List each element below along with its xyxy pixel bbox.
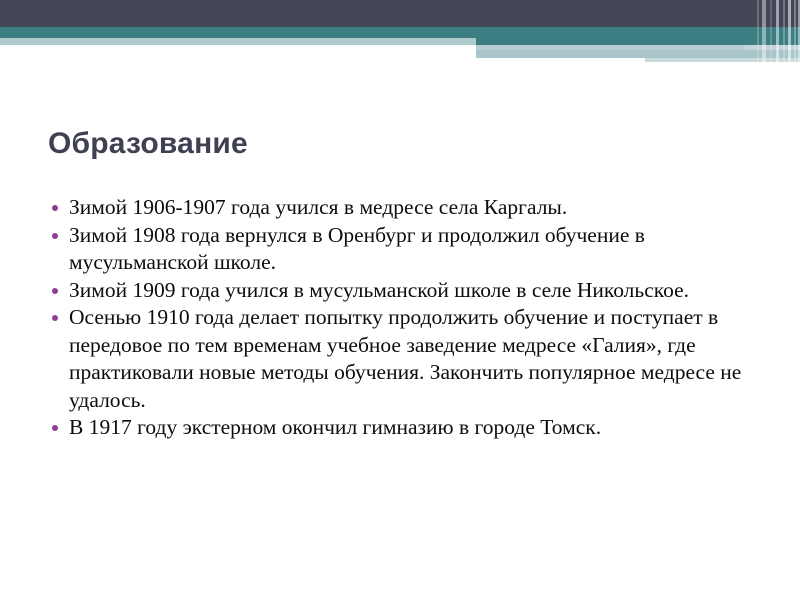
header-teal-bar-left	[0, 27, 476, 38]
vertical-stripe-6	[788, 0, 791, 62]
bullet-list: Зимой 1906-1907 года учился в медресе се…	[48, 194, 764, 442]
vertical-stripe-4	[776, 0, 779, 62]
vertical-stripe-3	[770, 0, 772, 62]
header-pale-bar-left	[0, 38, 476, 45]
vertical-stripe-5	[783, 0, 785, 62]
header-white-gap	[0, 45, 476, 51]
header-pale-bar-lower-right	[476, 50, 800, 58]
bullet-item: Зимой 1909 года учился в мусульманской ш…	[48, 277, 764, 305]
vertical-stripe-1	[757, 0, 759, 62]
header-vertical-stripes	[754, 0, 800, 62]
header-dark-bar	[0, 0, 800, 27]
vertical-stripe-7	[794, 0, 796, 62]
bullet-item: В 1917 году экстерном окончил гимназию в…	[48, 414, 764, 442]
header-teal-bar-right	[476, 27, 800, 45]
bullet-item: Зимой 1906-1907 года учился в медресе се…	[48, 194, 764, 222]
vertical-stripe-2	[762, 0, 766, 62]
bullet-item: Зимой 1908 года вернулся в Оренбург и пр…	[48, 222, 764, 277]
bullet-item: Осенью 1910 года делает попытку продолжи…	[48, 304, 764, 414]
slide-body: Зимой 1906-1907 года учился в медресе се…	[48, 194, 764, 442]
header-decoration-banner	[0, 0, 800, 70]
slide-title: Образование	[48, 127, 248, 161]
